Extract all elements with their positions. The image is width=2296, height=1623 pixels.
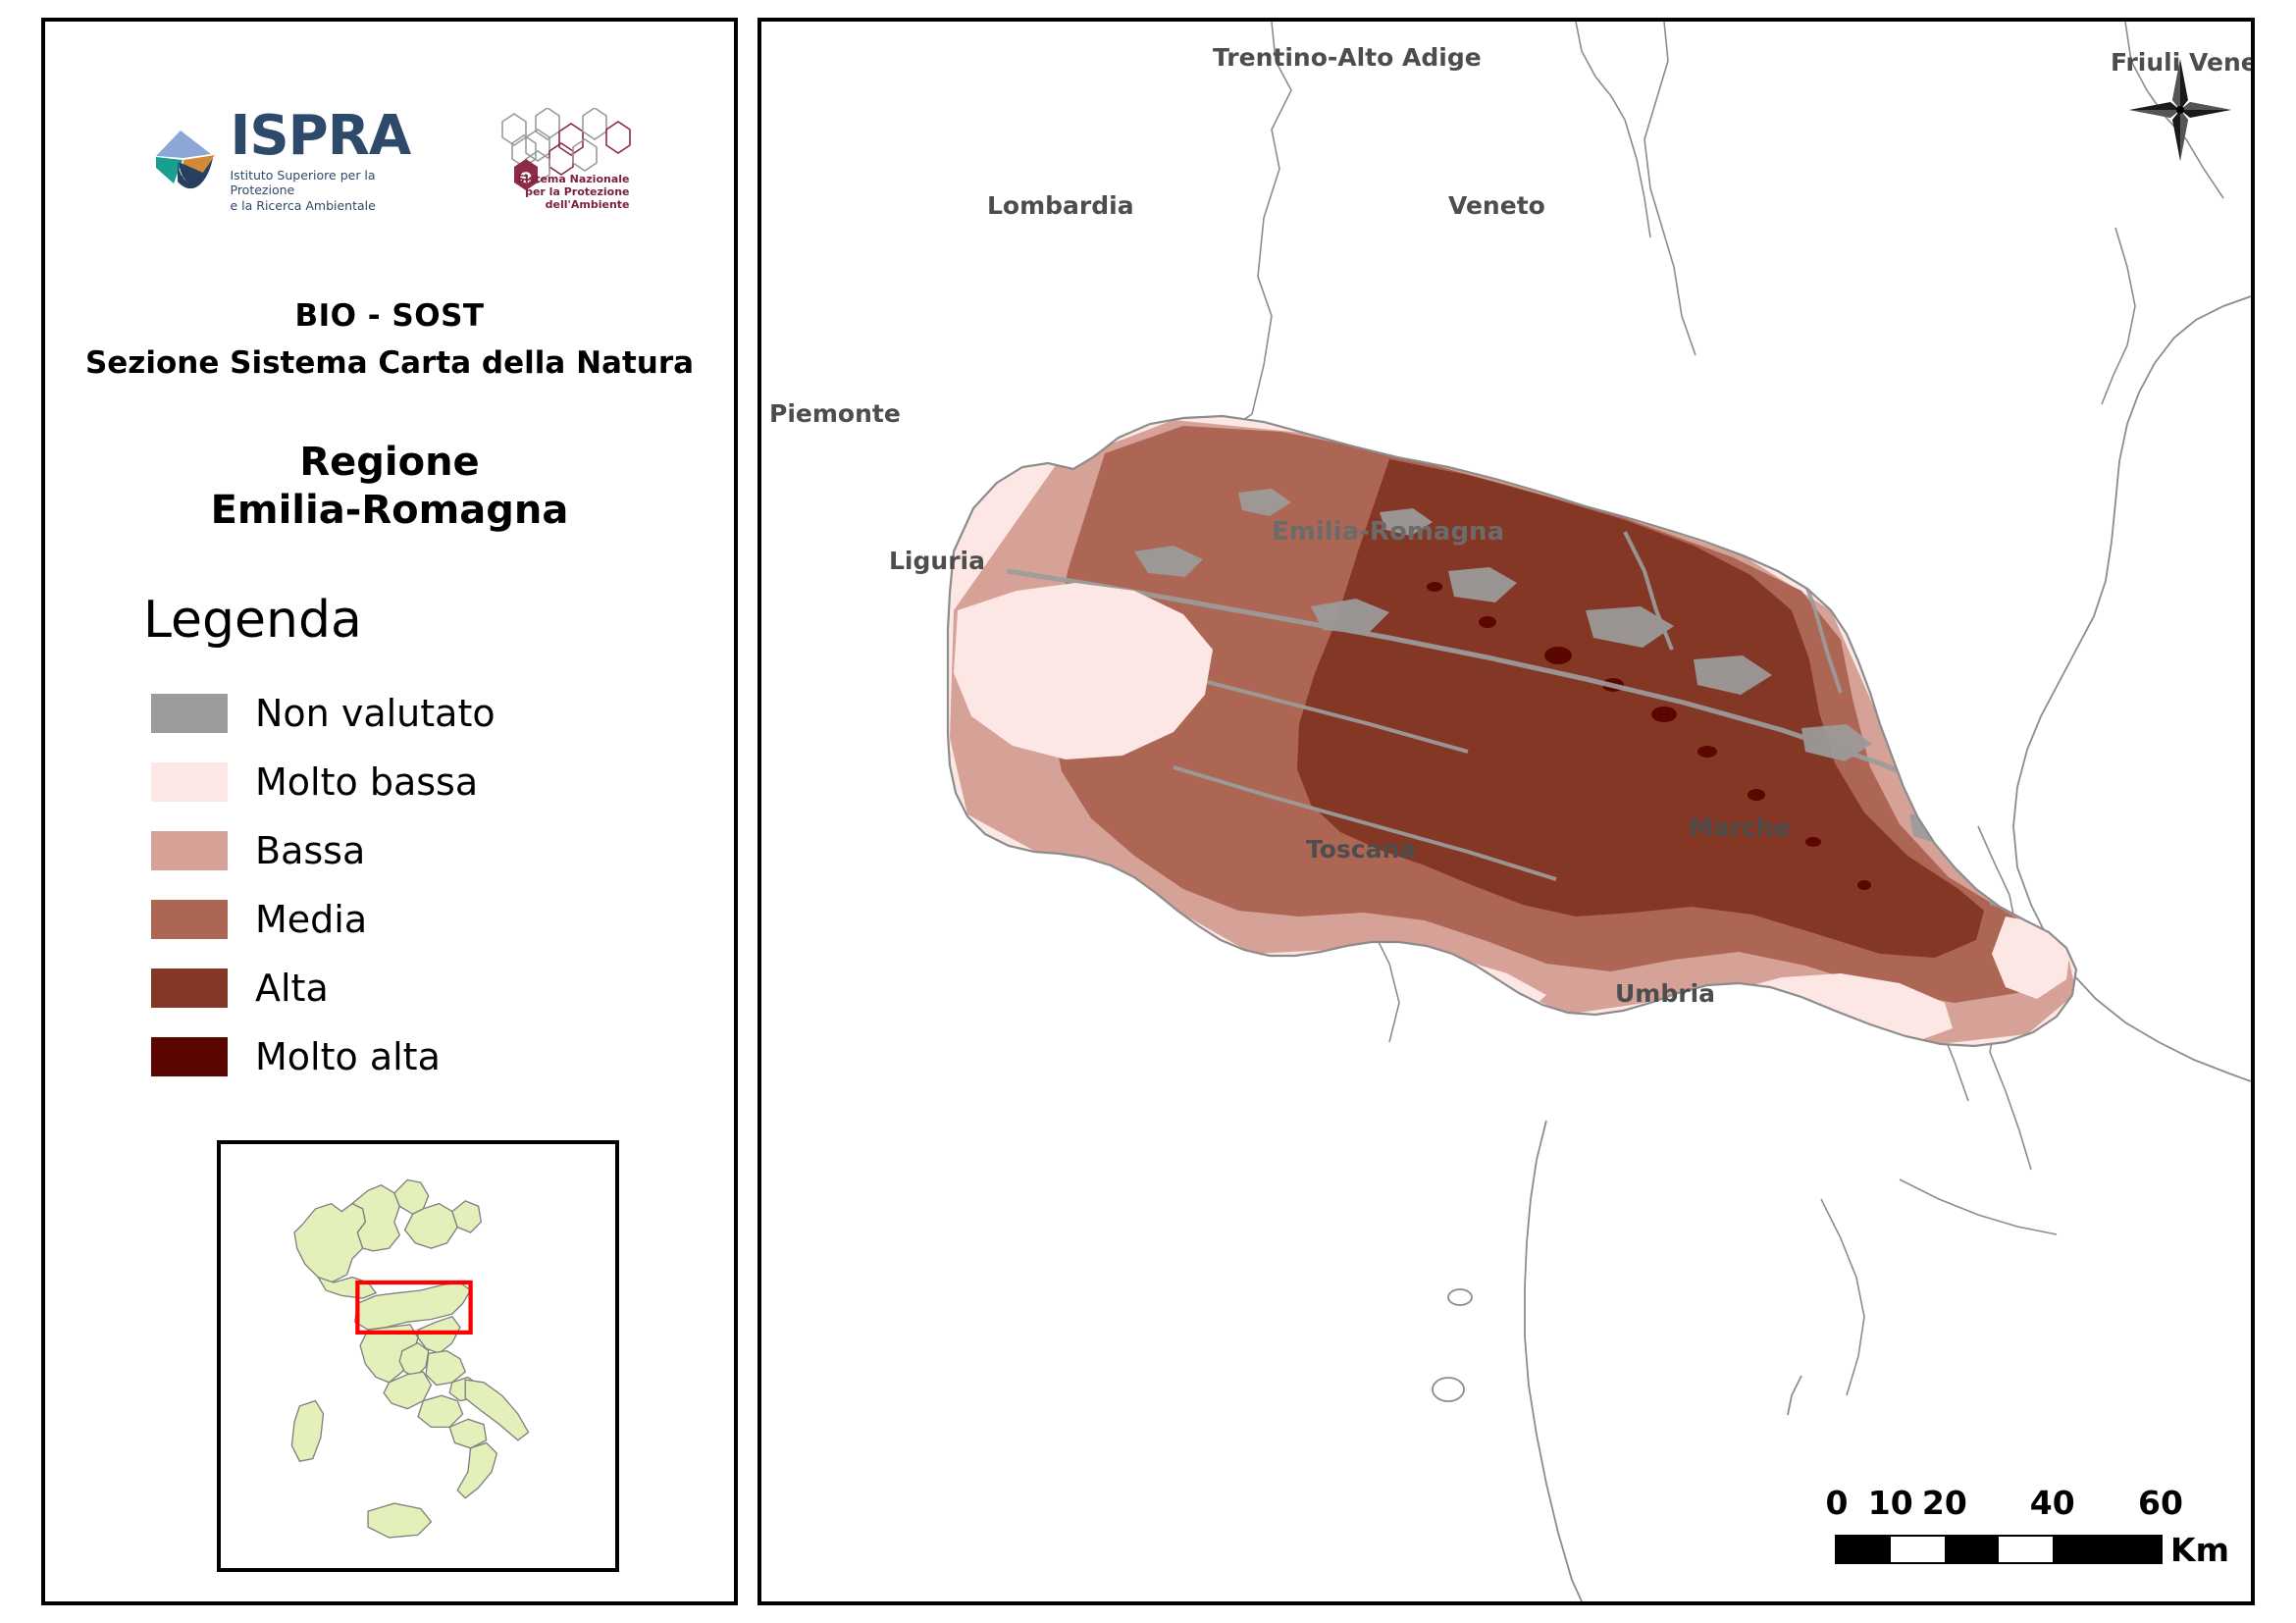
ispra-mark-icon [148,125,221,197]
project-subtitle: Sezione Sistema Carta della Natura [45,345,734,381]
legend-label: Bassa [255,829,365,872]
scale-tick-60: 60 [2138,1484,2183,1522]
map-label-marche: Marche [1689,813,1791,842]
snpa-caption-line1: Sistema Nazionale [517,173,630,185]
scale-segment [1945,1537,1999,1562]
legend-swatch [151,969,228,1008]
map-label-trentino-alto-adige: Trentino-Alto Adige [1213,43,1482,72]
legend-swatch [151,1037,228,1076]
ispra-subtitle: Istituto Superiore per la Protezione e l… [231,168,442,214]
scale-tick-40: 40 [2030,1484,2075,1522]
snpa-caption-line3: dell'Ambiente [546,198,630,211]
scale-bar-unit: Km [2170,1531,2229,1569]
scale-segment [1891,1537,1945,1562]
region-title-line2: Emilia-Romagna [211,488,569,533]
legend-swatch [151,762,228,802]
snpa-caption: Sistema Nazionale per la Protezione dell… [493,174,630,212]
legend-item-non-valutato: Non valutato [151,689,701,738]
ispra-text-block: ISPRA Istituto Superiore per la Protezio… [231,109,442,214]
italy-locator-map [217,1140,619,1572]
ispra-wordmark: ISPRA [231,109,442,164]
logo-row: ISPRA Istituto Superiore per la Protezio… [45,102,734,220]
legend-item-media: Media [151,895,701,944]
map-label-piemonte: Piemonte [769,399,901,428]
legend-item-molto-alta: Molto alta [151,1032,701,1081]
region-title: Regione Emilia-Romagna [45,439,734,535]
legend-swatch [151,694,228,733]
map-label-veneto: Veneto [1448,191,1545,220]
map-canvas[interactable]: Trentino-Alto AdigeFriuli Venezia Giulia… [761,22,2251,1601]
snpa-logo: e Sistema Nazionale per la Protezione de… [475,108,632,214]
map-label-emilia-romagna: Emilia-Romagna [1272,517,1504,547]
scale-segment [1837,1537,1891,1562]
legend-panel: ISPRA Istituto Superiore per la Protezio… [41,18,738,1605]
legend-label: Molto bassa [255,760,478,804]
legend-item-alta: Alta [151,964,701,1013]
map-label-toscana: Toscana [1306,835,1416,864]
map-label-lombardia: Lombardia [987,191,1134,220]
ispra-logo: ISPRA Istituto Superiore per la Protezio… [148,109,442,214]
scale-bar-ticks: 010204060 [1837,1484,2229,1535]
legend-list: Non valutatoMolto bassaBassaMediaAltaMol… [151,689,701,1101]
legend-heading: Legenda [143,591,362,650]
scale-tick-20: 20 [1922,1484,1967,1522]
snpa-caption-line2: per la Protezione [525,185,629,198]
legend-label: Non valutato [255,692,496,735]
scale-tick-0: 0 [1826,1484,1849,1522]
legend-swatch [151,831,228,870]
ispra-subtitle-line1: Istituto Superiore per la Protezione [231,168,376,198]
ispra-subtitle-line2: e la Ricerca Ambientale [231,198,376,213]
map-label-liguria: Liguria [889,547,985,575]
map-label-umbria: Umbria [1615,979,1715,1008]
main-map-panel[interactable]: Trentino-Alto AdigeFriuli Venezia Giulia… [757,18,2255,1605]
legend-label: Media [255,898,367,941]
legend-label: Alta [255,967,329,1010]
legend-item-bassa: Bassa [151,826,701,875]
legend-label: Molto alta [255,1035,441,1078]
north-arrow [2127,55,2233,165]
scale-bar: 010204060 Km [1837,1484,2229,1601]
map-figure: ISPRA Istituto Superiore per la Protezio… [0,0,2296,1623]
scale-segment [1999,1537,2053,1562]
region-title-line1: Regione [299,440,479,485]
project-title: BIO - SOST [45,298,734,334]
scale-tick-10: 10 [1868,1484,1913,1522]
scale-bar-segments [1837,1537,2161,1562]
legend-swatch [151,900,228,939]
legend-item-molto-bassa: Molto bassa [151,758,701,807]
scale-segment [2053,1537,2161,1562]
